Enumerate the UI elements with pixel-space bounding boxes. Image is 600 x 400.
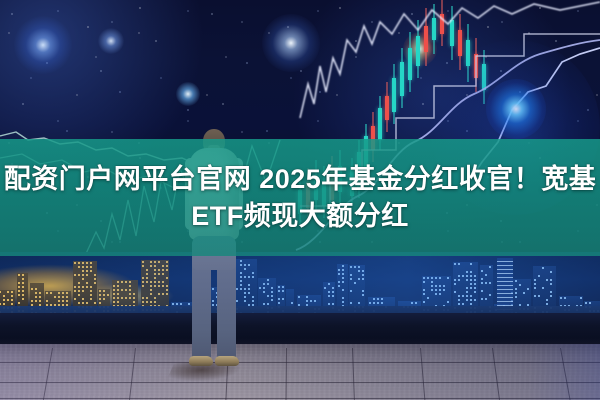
banner-image: 配资门户网平台官网 2025年基金分红收官！宽基 ETF频现大额分红 — [0, 0, 600, 400]
headline-line-2: ETF频现大额分红 — [191, 202, 409, 230]
floor-color-tint — [0, 344, 600, 400]
headline-line-1: 配资门户网平台官网 2025年基金分红收官！宽基 — [4, 165, 597, 193]
headline-block: 配资门户网平台官网 2025年基金分红收官！宽基 ETF频现大额分红 — [0, 139, 600, 256]
person-shoe-left — [189, 356, 213, 366]
person-shoe-right — [215, 356, 239, 366]
